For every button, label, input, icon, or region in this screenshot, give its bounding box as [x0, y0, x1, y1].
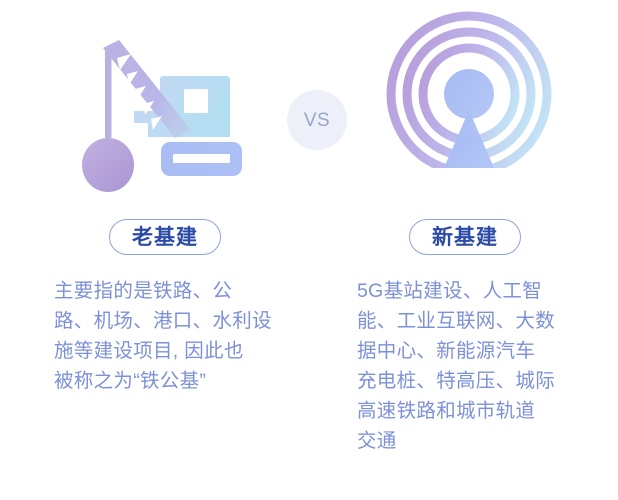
description-new-infrastructure: 5G基站建设、人工智 能、工业互联网、大数 据中心、新能源汽车 充电桩、特高压、…	[357, 276, 602, 456]
description-line: 充电桩、特高压、城际	[357, 366, 602, 396]
pill-old-infrastructure-label: 老基建	[132, 227, 198, 248]
description-row: 主要指的是铁路、公 路、机场、港口、水利设 施等建设项目, 因此也 被称之为“铁…	[0, 276, 618, 496]
description-line: 被称之为“铁公基”	[54, 366, 299, 396]
pill-new-infrastructure-label: 新基建	[432, 227, 498, 248]
description-line: 据中心、新能源汽车	[357, 336, 602, 366]
description-line: 交通	[357, 426, 602, 456]
description-line: 高速铁路和城市轨道	[357, 396, 602, 426]
category-pill-row: 老基建 新基建	[0, 219, 618, 259]
icon-row: VS	[0, 0, 618, 200]
description-old-infrastructure: 主要指的是铁路、公 路、机场、港口、水利设 施等建设项目, 因此也 被称之为“铁…	[54, 276, 299, 396]
vs-badge: VS	[287, 90, 347, 150]
wrecking-ball-crane-icon	[75, 18, 255, 188]
description-line: 能、工业互联网、大数	[357, 306, 602, 336]
pill-new-infrastructure[interactable]: 新基建	[409, 219, 521, 255]
infographic-root: VS 老基建 新基建 主要指的是铁路、公 路、机场、港口、水利设 施等建设项目,…	[0, 0, 618, 500]
description-line: 5G基站建设、人工智	[357, 276, 602, 306]
signal-tower-icon	[382, 18, 562, 188]
description-line: 路、机场、港口、水利设	[54, 306, 299, 336]
description-line: 主要指的是铁路、公	[54, 276, 299, 306]
pill-old-infrastructure[interactable]: 老基建	[109, 219, 221, 255]
vs-label: VS	[304, 111, 330, 130]
description-line: 施等建设项目, 因此也	[54, 336, 299, 366]
